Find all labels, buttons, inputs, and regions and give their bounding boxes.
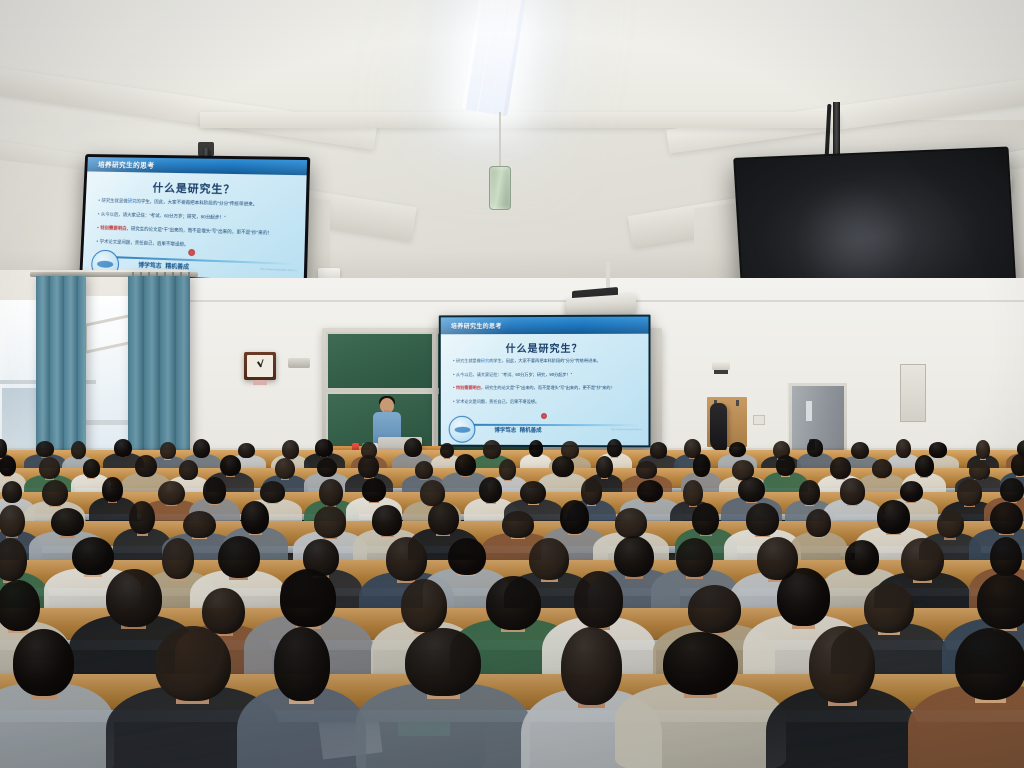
student-head — [615, 508, 648, 538]
student-head — [415, 461, 434, 479]
student-head — [202, 588, 244, 634]
student-head — [990, 502, 1023, 534]
student-head — [529, 538, 569, 580]
student-head — [683, 480, 703, 506]
slide-bullet: • 研究生就是做研究的学生，因此，大家不要再把本科阶段的“分分”传统带进来。 — [453, 358, 636, 364]
slide-header-text: 培养研究生的思考 — [98, 160, 155, 171]
student-head — [607, 439, 622, 457]
student-head — [799, 480, 820, 504]
student-head — [830, 457, 850, 479]
student-head — [114, 439, 132, 457]
student-head — [663, 632, 737, 696]
student-head — [486, 576, 541, 630]
student-head — [574, 571, 624, 628]
student-head — [51, 508, 84, 537]
projection-screen[interactable]: 培养研究生的思考 什么是研究生？ • 研究生就是做研究的学生，因此，大家不要再把… — [439, 315, 651, 448]
student-head — [520, 481, 546, 504]
student-head — [106, 569, 162, 627]
student-head — [552, 456, 574, 476]
student-head — [135, 455, 157, 477]
ceiling-beam-center — [200, 112, 840, 128]
student-head — [319, 479, 343, 506]
student-head — [71, 441, 86, 459]
slide-bullet: • 学术论文是问题，责任自己，后果不堪设想。 — [453, 399, 636, 405]
student-head — [977, 573, 1024, 629]
slide-header-bar: 培养研究生的思考 — [441, 317, 649, 334]
student-head — [901, 538, 943, 581]
wall-switch-plate[interactable] — [753, 415, 765, 425]
student-head — [160, 442, 176, 459]
student-head — [162, 538, 194, 579]
student-head — [36, 441, 54, 457]
lecture-hall-photo: 培养研究生的思考 什么是研究生？ • 研究生就是做研究的学生，因此，大家不要再把… — [0, 0, 1024, 768]
student-head — [693, 454, 711, 476]
slide-motto: 博学笃志 精机善成 — [494, 426, 538, 434]
student-head — [900, 481, 923, 502]
student-head — [386, 537, 427, 581]
student-head — [479, 477, 502, 503]
student-head — [179, 460, 198, 479]
student-head — [864, 583, 914, 633]
wall-bracket — [288, 358, 310, 368]
student-head — [2, 481, 22, 503]
hanging-jacket — [710, 403, 727, 451]
student-head — [241, 501, 269, 534]
student-head — [183, 511, 216, 539]
student-head — [561, 627, 622, 705]
slide-seal-icon — [188, 249, 195, 256]
slide-bullet: • 从今以后，请大家记住：“考试、60分万岁；研究，90分起步！” — [98, 211, 292, 223]
ceiling-display-left[interactable]: 培养研究生的思考 什么是研究生？ • 研究生就是做研究的学生，因此，大家不要再把… — [79, 154, 310, 285]
student-head — [0, 456, 16, 477]
student-head — [896, 439, 911, 458]
clock-mount — [253, 380, 267, 385]
student-head — [13, 629, 74, 696]
student-head — [448, 538, 486, 575]
student-head — [937, 510, 964, 539]
student-head — [315, 439, 333, 456]
student-head — [203, 477, 225, 503]
student-head — [650, 442, 668, 458]
student-head — [560, 500, 589, 533]
student-head — [692, 503, 719, 534]
slide-seal-icon — [541, 413, 547, 419]
student-head — [596, 456, 613, 478]
student-head — [776, 455, 795, 476]
student-head — [404, 438, 422, 457]
slide-projected: 培养研究生的思考 什么是研究生？ • 研究生就是做研究的学生，因此，大家不要再把… — [441, 317, 649, 446]
slide-divider — [100, 256, 295, 265]
student-head — [809, 626, 875, 703]
slide-footer-url: http://www.example.edu.cn — [260, 266, 297, 272]
student-head — [158, 481, 184, 506]
slide-title: 什么是研究生？ — [441, 333, 649, 358]
student-head — [957, 479, 982, 506]
student-head — [851, 442, 869, 459]
student-head — [840, 478, 866, 505]
student-head — [260, 481, 285, 503]
ceiling-sensor-icon — [489, 166, 511, 210]
student-head — [738, 477, 764, 502]
university-logo-icon — [449, 416, 476, 443]
student-head — [729, 442, 746, 458]
student-head — [990, 537, 1022, 577]
student-head — [929, 442, 947, 457]
student-head — [877, 500, 910, 534]
student-head — [806, 509, 831, 537]
student-head — [746, 503, 779, 536]
student-head — [969, 461, 990, 480]
student-head — [0, 505, 25, 537]
student-head — [581, 478, 602, 505]
student-head — [72, 537, 115, 576]
student-head — [428, 502, 459, 535]
student-head — [440, 443, 454, 459]
student-head — [155, 626, 231, 701]
student-head — [915, 455, 934, 477]
student-head — [483, 440, 501, 459]
student-head — [358, 455, 379, 477]
student-head — [777, 568, 829, 626]
student-head — [872, 459, 892, 478]
slide-bullet: • 从今以后，请大家记住：“考试、60分万岁；研究，90分起步！” — [453, 372, 636, 378]
slide-bullet: • 特别需要明白，研究生的论文是“干”出来的，而不是埋头“写”出来的，更不是“抄… — [97, 225, 291, 237]
fire-extinguisher-cabinet[interactable] — [900, 364, 926, 422]
student-torso — [908, 685, 1024, 768]
student-head — [676, 538, 713, 577]
student-head — [955, 628, 1024, 700]
student-head — [688, 585, 741, 633]
door-panel-strip — [806, 401, 812, 421]
student-head — [129, 501, 155, 535]
student-head — [83, 459, 100, 477]
coat-hook-icon — [736, 400, 739, 406]
student-head — [1011, 454, 1024, 476]
slide-footer-url: http://www.example.edu.cn — [611, 429, 642, 432]
student-head — [976, 440, 990, 459]
student-head — [502, 511, 534, 538]
slide-bullet: • 特别需要明白，研究生的论文是“干”出来的，而不是埋头“写”出来的，更不是“抄… — [453, 385, 636, 391]
student-head — [42, 480, 68, 506]
student-head — [614, 536, 654, 577]
student-head — [218, 536, 260, 578]
student-head — [102, 477, 123, 502]
student-head — [314, 506, 346, 537]
student-head — [637, 480, 663, 502]
student-head — [405, 628, 481, 696]
light-hanger-rod — [499, 112, 501, 170]
student-head — [39, 457, 61, 479]
slide-left: 培养研究生的思考 什么是研究生？ • 研究生就是做研究的学生，因此，大家不要再把… — [82, 157, 307, 282]
student-head — [220, 455, 241, 476]
student-head — [274, 627, 330, 702]
emergency-light-icon — [712, 361, 730, 370]
student-head — [317, 458, 337, 477]
student-head — [275, 458, 295, 479]
chalkboard-panel — [326, 332, 434, 390]
slide-divider — [457, 423, 640, 425]
student-head — [499, 459, 516, 480]
student-head — [455, 454, 477, 476]
student-head — [282, 440, 299, 459]
student-head — [807, 439, 823, 457]
slide-body: • 研究生就是做研究的学生，因此，大家不要再把本科阶段的“分分”传统带进来。 •… — [84, 197, 306, 252]
slide-body: • 研究生就是做研究的学生，因此，大家不要再把本科阶段的“分分”传统带进来。 •… — [441, 358, 649, 412]
slide-header-text: 培养研究生的思考 — [451, 321, 502, 330]
student-head — [362, 478, 386, 502]
student-head — [372, 505, 402, 535]
student-head — [845, 540, 880, 575]
student-head — [193, 439, 210, 458]
wall-clock-icon — [244, 352, 276, 380]
student-head — [280, 569, 336, 627]
student-head — [238, 443, 255, 458]
student-head — [401, 579, 447, 632]
student-head — [529, 440, 543, 456]
student-head — [636, 461, 658, 479]
student-head — [1000, 478, 1024, 502]
